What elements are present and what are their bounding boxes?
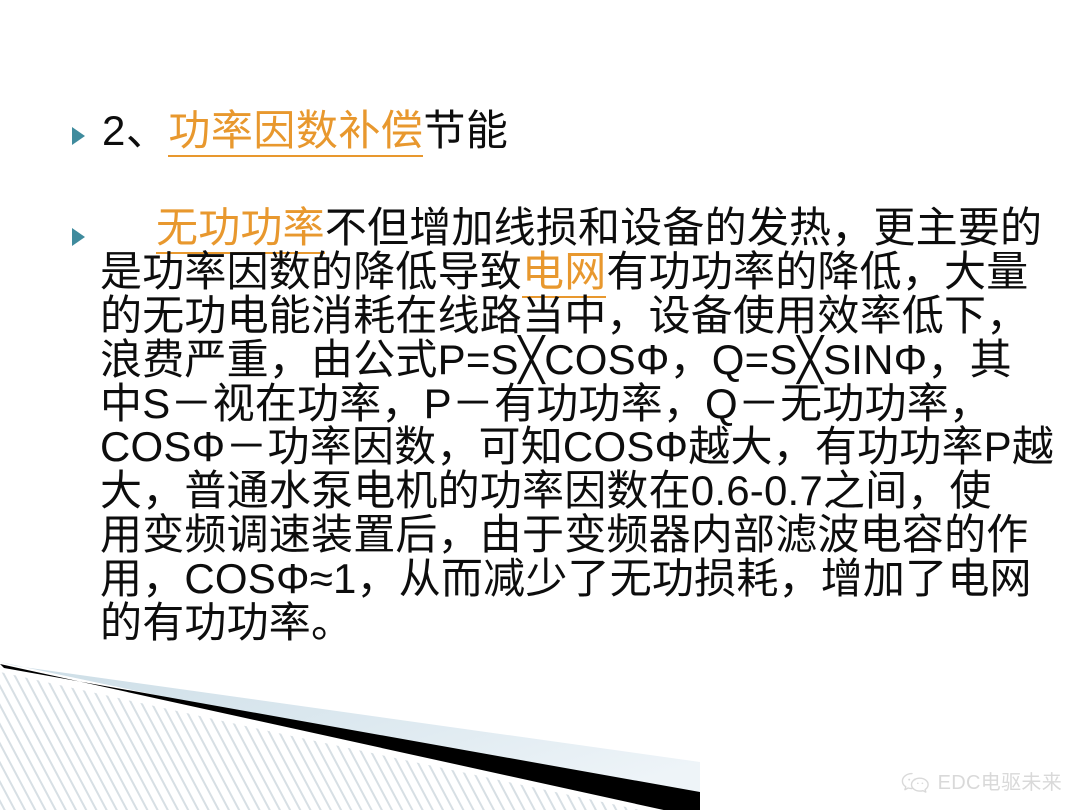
body-line-7: 大，普通水泵电机的功率因数在0.6-0.7之间，使 (100, 469, 1010, 513)
body-highlight-wugong: 无功功率 (156, 204, 325, 254)
body-paragraph: 无功功率不但增加线损和设备的发热，更主要的 是功率因数的降低导致电网有功功率的降… (100, 206, 1010, 645)
body-line-2-pre: 是功率因数的降低导致 (100, 248, 522, 295)
body-line-9: 用，COSΦ≈1，从而减少了无功损耗，增加了电网 (100, 557, 1010, 601)
heading-suffix: 节能 (423, 107, 508, 154)
watermark-text: EDC电驱未来 (938, 773, 1062, 793)
triangle-bullet-icon (72, 228, 85, 246)
heading-highlight: 功率因数补偿 (168, 107, 423, 157)
body-line-3: 的无功电能消耗在线路当中，设备使用效率低下， (100, 294, 1010, 338)
body-line-8: 用变频调速装置后，由于变频器内部滤波电容的作 (100, 513, 1010, 557)
triangle-bullet-icon (72, 127, 85, 145)
decorative-wedge-graphic (0, 650, 700, 810)
body-line-10: 的有功功率。 (100, 601, 1010, 645)
heading-prefix: 2、 (102, 107, 168, 154)
body-line-5: 中S－视在功率，P－有功功率，Q－无功功率， (100, 382, 1010, 426)
watermark: EDC电驱未来 (901, 772, 1062, 794)
body-line-1: 无功功率不但增加线损和设备的发热，更主要的 (100, 206, 1010, 250)
heading-line: 2、功率因数补偿节能 (102, 106, 1080, 156)
body-line-2: 是功率因数的降低导致电网有功功率的降低，大量 (100, 250, 1010, 294)
body-line-6: COSΦ－功率因数，可知COSΦ越大，有功功率P越 (100, 425, 1010, 469)
body-line-1-rest: 不但增加线损和设备的发热，更主要的 (325, 204, 1042, 251)
bullet-body: 无功功率不但增加线损和设备的发热，更主要的 是功率因数的降低导致电网有功功率的降… (0, 206, 1080, 645)
bullet-heading: 2、功率因数补偿节能 (0, 106, 1080, 156)
body-line-4: 浪费严重，由公式P=S╳COSΦ，Q=S╳SINΦ，其 (100, 338, 1010, 382)
body-line-2-post: 有功功率的降低，大量 (606, 248, 1028, 295)
slide-canvas: 2、功率因数补偿节能 无功功率不但增加线损和设备的发热，更主要的 是功率因数的降… (0, 0, 1080, 810)
body-highlight-dianwang: 电网 (522, 248, 606, 298)
wechat-speech-bubble-icon (901, 772, 931, 794)
